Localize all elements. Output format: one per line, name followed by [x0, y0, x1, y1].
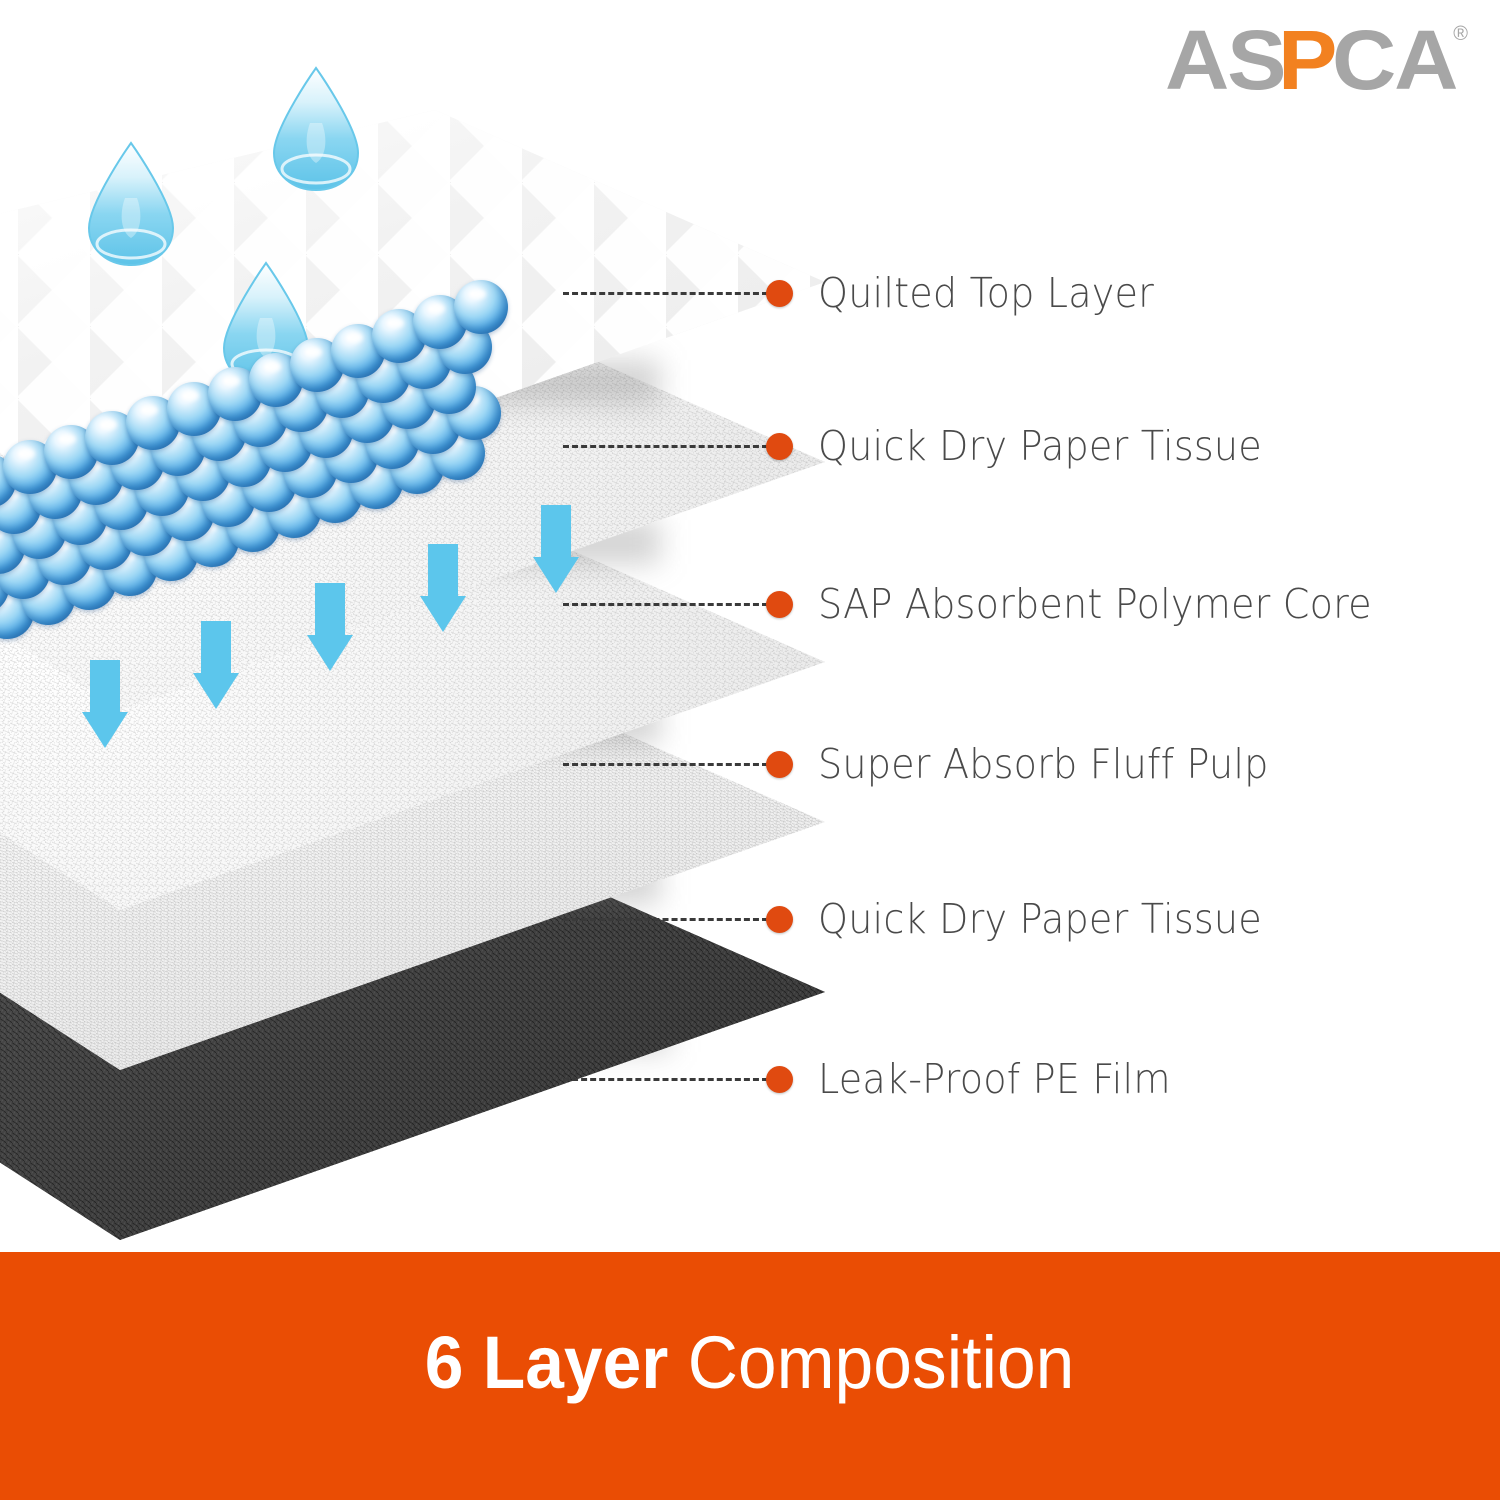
absorption-arrow-down-icon: [307, 583, 353, 671]
leader-line: [563, 603, 768, 606]
water-droplet-icon: [85, 140, 177, 268]
leader-line: [563, 1078, 768, 1081]
banner-title-regular: Composition: [669, 1321, 1075, 1404]
bullet-dot-icon: [766, 1066, 793, 1093]
callout-row-5: Leak-Proof PE Film: [563, 1055, 1197, 1103]
layer-label-3: Super Absorb Fluff Pulp: [818, 742, 1269, 786]
bullet-dot-icon: [766, 751, 793, 778]
leader-line: [563, 292, 768, 295]
bullet-dot-icon: [766, 433, 793, 460]
logo-text-ca: CA: [1332, 18, 1456, 102]
absorption-arrow-down-icon: [82, 660, 128, 748]
sap-bead: [454, 280, 508, 334]
callout-row-1: Quick Dry Paper Tissue: [563, 422, 1295, 470]
logo-text-as: AS: [1165, 18, 1284, 102]
aspca-logo: AS P CA ®: [1165, 18, 1466, 102]
leader-line: [563, 763, 768, 766]
product-infographic: Quilted Top Layer Quick Dry Paper Tissue…: [0, 0, 1500, 1500]
leader-line: [563, 918, 768, 921]
absorption-arrow-down-icon: [420, 544, 466, 632]
absorption-arrow-down-icon: [193, 621, 239, 709]
callout-row-4: Quick Dry Paper Tissue: [563, 895, 1295, 943]
logo-text-p: P: [1278, 18, 1335, 102]
callout-row-2: SAP Absorbent Polymer Core: [563, 580, 1413, 628]
layer-label-0: Quilted Top Layer: [818, 271, 1154, 315]
layer-label-2: SAP Absorbent Polymer Core: [818, 582, 1372, 626]
bullet-dot-icon: [766, 280, 793, 307]
layer-label-1: Quick Dry Paper Tissue: [818, 424, 1262, 468]
banner-title: 6 Layer Composition: [425, 1323, 1075, 1403]
callout-row-3: Super Absorb Fluff Pulp: [563, 740, 1302, 788]
bullet-dot-icon: [766, 591, 793, 618]
banner-title-bold: 6 Layer: [425, 1321, 669, 1404]
leader-line: [563, 445, 768, 448]
callout-row-0: Quilted Top Layer: [563, 269, 1179, 317]
layer-label-5: Leak-Proof PE Film: [818, 1057, 1171, 1101]
layer-label-4: Quick Dry Paper Tissue: [818, 897, 1262, 941]
bullet-dot-icon: [766, 906, 793, 933]
bottom-banner: 6 Layer Composition: [0, 1252, 1500, 1500]
water-droplet-icon: [270, 65, 362, 193]
